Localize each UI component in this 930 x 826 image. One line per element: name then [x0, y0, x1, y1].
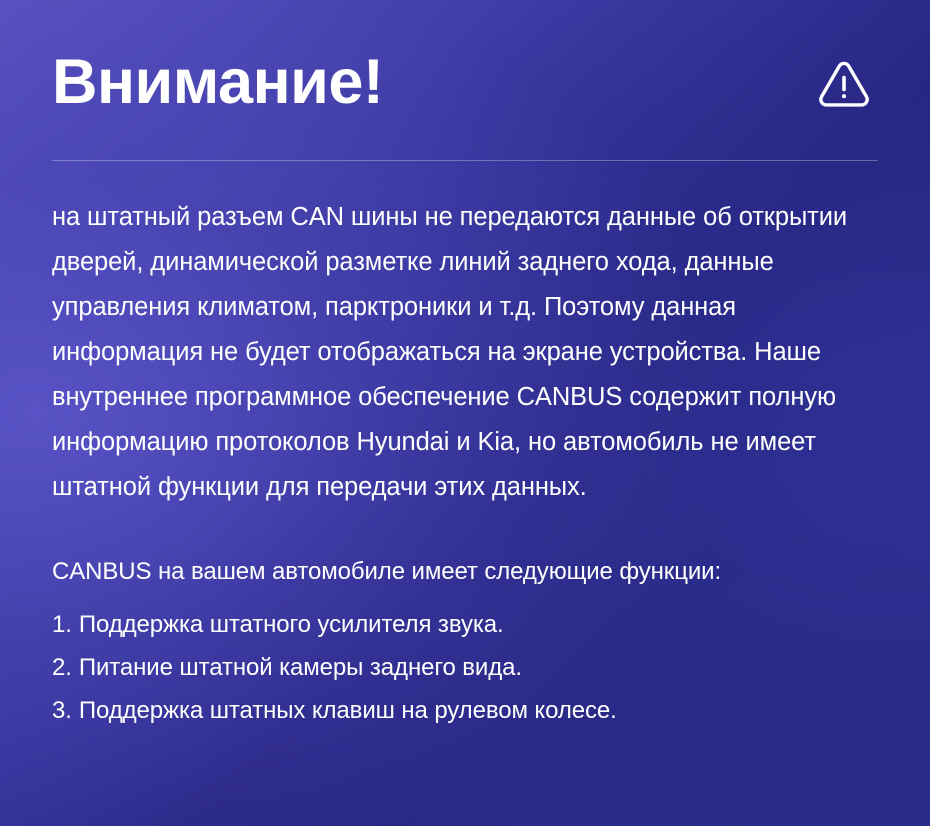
banner-content: на штатный разъем CAN шины не передаются…: [0, 161, 930, 732]
list-item: 1. Поддержка штатного усилителя звука.: [52, 603, 878, 646]
list-item-label: Поддержка штатных клавиш на рулевом коле…: [79, 689, 878, 732]
list-item-label: Питание штатной камеры заднего вида.: [79, 646, 878, 689]
list-item: 3. Поддержка штатных клавиш на рулевом к…: [52, 689, 878, 732]
list-item-number: 3.: [52, 689, 72, 732]
list-item: 2. Питание штатной камеры заднего вида.: [52, 646, 878, 689]
page-title: Внимание!: [52, 51, 383, 114]
features-block: CANBUS на вашем автомобиле имеет следующ…: [52, 551, 878, 732]
list-item-label: Поддержка штатного усилителя звука.: [79, 603, 878, 646]
warning-triangle-icon: [816, 56, 872, 112]
banner-header: Внимание!: [0, 0, 930, 160]
features-list: 1. Поддержка штатного усилителя звука. 2…: [52, 603, 878, 732]
list-item-number: 2.: [52, 646, 72, 689]
intro-paragraph: на штатный разъем CAN шины не передаются…: [52, 195, 878, 510]
features-heading: CANBUS на вашем автомобиле имеет следующ…: [52, 551, 878, 593]
warning-banner: Внимание! на штатный разъем CAN шины не …: [0, 0, 930, 826]
list-item-number: 1.: [52, 603, 72, 646]
